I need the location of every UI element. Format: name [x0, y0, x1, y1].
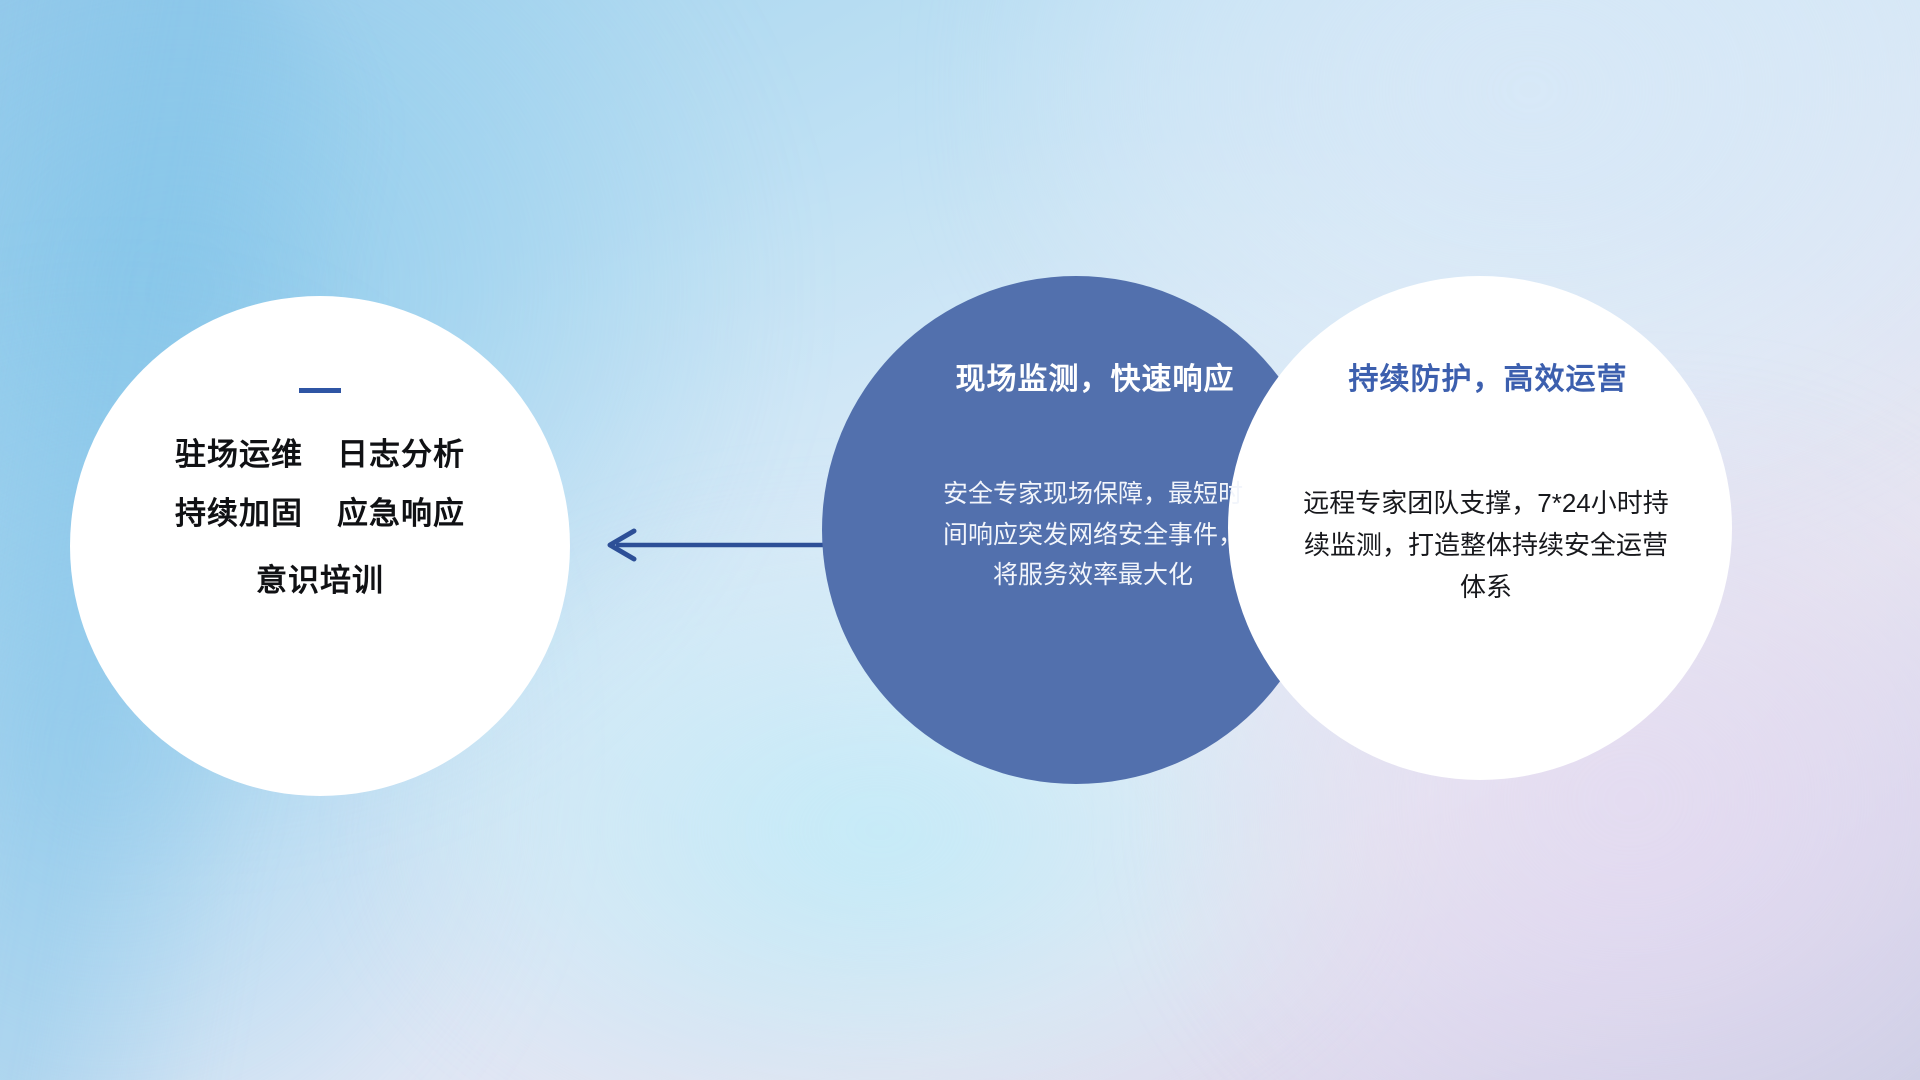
- feature-middle-content: 现场监测，快速响应 安全专家现场保障，最短时间响应突发网络安全事件，将服务效率最…: [822, 276, 1330, 784]
- capability-item-onsite-ops: 驻场运维: [175, 439, 303, 470]
- feature-middle-body: 安全专家现场保障，最短时间响应突发网络安全事件，将服务效率最大化: [943, 474, 1243, 596]
- feature-circle-middle: 现场监测，快速响应 安全专家现场保障，最短时间响应突发网络安全事件，将服务效率最…: [822, 276, 1330, 784]
- feature-middle-title: 现场监测，快速响应: [956, 354, 1235, 398]
- capability-list: 驻场运维 日志分析 持续加固 应急响应 意识培训: [70, 296, 570, 796]
- capability-item-awareness-training: 意识培训: [256, 563, 384, 598]
- capability-item-continuous-hardening: 持续加固: [175, 498, 303, 529]
- capability-item-emergency-response: 应急响应: [337, 498, 465, 529]
- feature-right-body: 远程专家团队支撑，7*24小时持续监测，打造整体持续安全运营体系: [1300, 482, 1672, 608]
- horizontal-dash-icon: [299, 388, 341, 393]
- capability-row-1: 驻场运维 日志分析: [175, 439, 465, 470]
- capability-row-2: 持续加固 应急响应: [175, 498, 465, 529]
- feature-right-title: 持续防护，高效运营: [1349, 354, 1628, 398]
- capability-row-3: 意识培训: [256, 565, 384, 596]
- slide-canvas: 驻场运维 日志分析 持续加固 应急响应 意识培训 现场监测，快速响应 安全专家现…: [0, 0, 1920, 1080]
- capability-circle-left: 驻场运维 日志分析 持续加固 应急响应 意识培训: [70, 296, 570, 796]
- capability-item-log-analysis: 日志分析: [337, 439, 465, 470]
